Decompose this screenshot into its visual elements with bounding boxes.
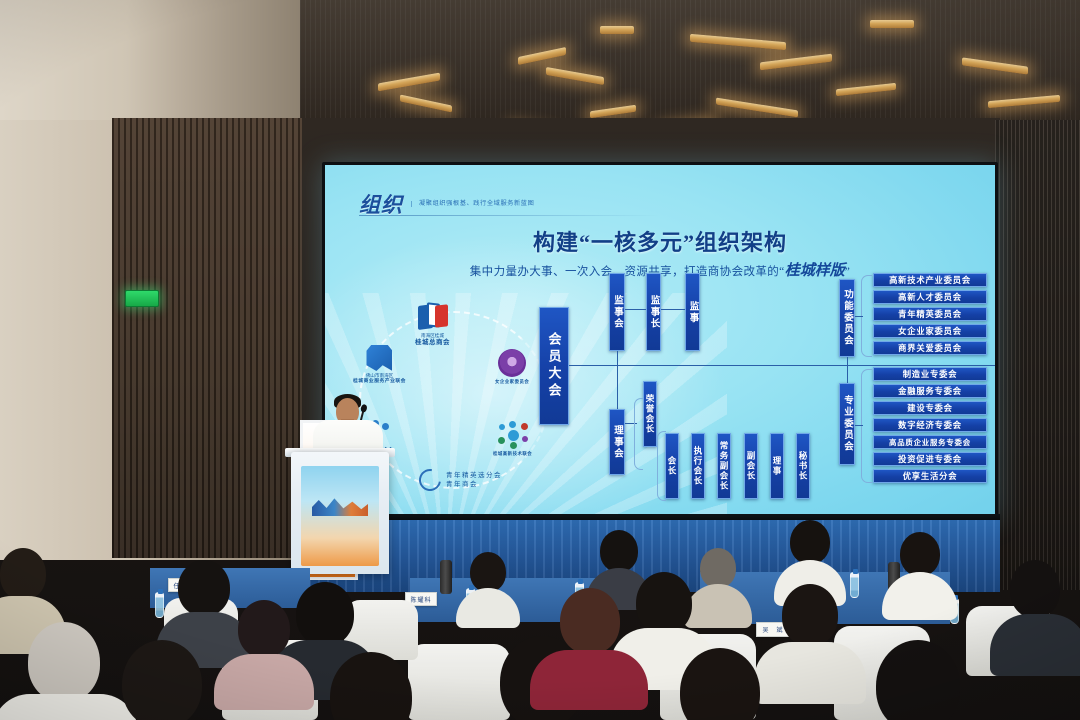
screenshot-root: 组织 凝聚组织强根基、践行全域服务新蓝图 构建“一核多元”组织架构 集中力量办大… (0, 0, 1080, 720)
person-head (178, 560, 230, 616)
chair (408, 644, 510, 720)
water-bottle (155, 592, 164, 618)
person-head (238, 600, 290, 658)
person-head (636, 572, 692, 634)
person-head (28, 622, 100, 702)
thermos-flask (440, 560, 452, 594)
person-shoulders (0, 694, 138, 720)
person-shoulders (990, 614, 1080, 676)
person-head (876, 640, 960, 720)
person-head (790, 520, 830, 564)
person-head (600, 530, 638, 572)
water-bottle (850, 572, 859, 598)
person-shoulders (530, 650, 648, 710)
person-head (900, 532, 940, 576)
person-shoulders (214, 654, 314, 710)
person-head (122, 640, 202, 720)
person-shoulders (754, 642, 866, 704)
person-head (560, 588, 620, 654)
audience: 任伟明 张国明 陈耀科 吴 斌 曾志广 (0, 0, 1080, 720)
person-head (470, 552, 506, 592)
person-head (296, 582, 354, 646)
person-head (782, 584, 838, 646)
person-head (0, 548, 46, 600)
person-head (1010, 560, 1060, 618)
person-head (700, 548, 736, 588)
